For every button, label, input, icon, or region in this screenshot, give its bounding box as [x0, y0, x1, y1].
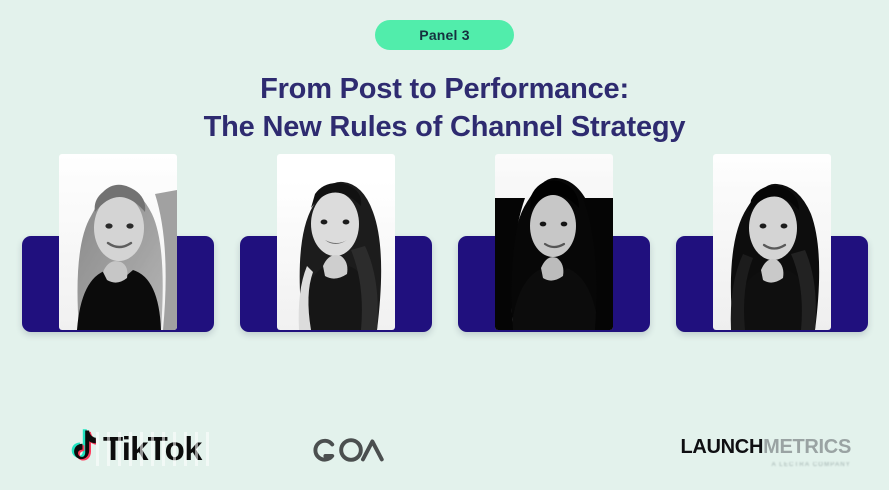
- speaker-portrait-3: [495, 154, 613, 330]
- tiktok-note-icon: [62, 429, 96, 467]
- tiktok-logo: TikTok: [62, 420, 202, 476]
- speaker-photo-stage-1: [18, 150, 218, 338]
- panel-badge-container: Panel 3: [0, 20, 889, 50]
- speaker-meta-4: [667, 348, 877, 352]
- speaker-card-3: [454, 150, 654, 352]
- speaker-portrait-1: [59, 154, 177, 330]
- panel-title-line-2: The New Rules of Channel Strategy: [0, 108, 889, 146]
- speaker-meta-1: [13, 348, 223, 352]
- gca-logo-icon: [310, 432, 392, 468]
- speaker-photo-stage-2: [236, 150, 436, 338]
- panel-title-line-1: From Post to Performance:: [0, 70, 889, 108]
- speakers-row: [0, 150, 889, 352]
- speaker-photo-stage-3: [454, 150, 654, 338]
- speaker-portrait-2: [277, 154, 395, 330]
- panel-title: From Post to Performance: The New Rules …: [0, 70, 889, 146]
- speaker-photo-stage-4: [672, 150, 872, 338]
- launchmetrics-wordmark: LAUNCHMETRICS: [680, 437, 851, 457]
- panel-slide: Panel 3 From Post to Performance: The Ne…: [0, 0, 889, 490]
- speaker-meta-3: [449, 348, 659, 352]
- speaker-card-1: [18, 150, 218, 352]
- speaker-card-4: [672, 150, 872, 352]
- launchmetrics-tagline: A LECTRA COMPANY: [772, 462, 851, 468]
- tiktok-wordmark: TikTok: [103, 432, 202, 465]
- sponsor-logos-row: TikTok LAUNCHMETRICS A LECTRA COMPANY: [0, 420, 889, 476]
- speaker-card-2: [236, 150, 436, 352]
- speaker-portrait-4: [713, 154, 831, 330]
- launchmetrics-word-part1: LAUNCH: [680, 436, 763, 458]
- speaker-meta-2: [231, 348, 441, 352]
- launchmetrics-logo: LAUNCHMETRICS A LECTRA COMPANY: [680, 424, 851, 480]
- panel-number-badge: Panel 3: [375, 20, 513, 50]
- gca-logo: [310, 422, 392, 478]
- launchmetrics-word-part2: METRICS: [763, 436, 851, 458]
